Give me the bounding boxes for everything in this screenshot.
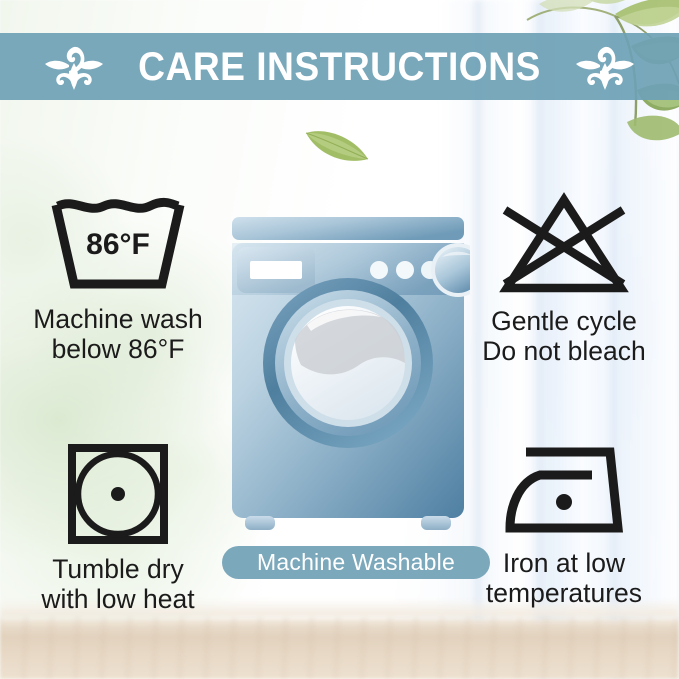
tumble-dry-icon: [2, 442, 234, 546]
washing-machine-illustration: [215, 205, 470, 535]
indicator-dot-1: [370, 261, 388, 279]
detergent-drawer-slot: [250, 261, 302, 279]
care-symbol-label: Gentle cycle Do not bleach: [448, 306, 679, 366]
machine-foot-right: [421, 516, 451, 530]
indicator-dot-2: [396, 261, 414, 279]
fleur-de-lis-icon-right: [574, 43, 636, 91]
care-symbol-iron: Iron at low temperatures: [448, 442, 679, 608]
care-symbol-machine-wash: 86°F Machine wash below 86°F: [2, 192, 234, 364]
care-symbol-label: Machine wash below 86°F: [2, 304, 234, 364]
floating-leaf-icon: [303, 124, 371, 166]
fleur-de-lis-icon-left: [43, 43, 105, 91]
wash-temperature-value: 86°F: [86, 228, 150, 261]
iron-icon: [448, 442, 679, 538]
machine-foot-left: [245, 516, 275, 530]
care-symbol-do-not-bleach: Gentle cycle Do not bleach: [448, 192, 679, 366]
crossed-triangle-icon: [448, 192, 679, 296]
machine-washable-badge: Machine Washable: [222, 546, 490, 579]
care-symbol-tumble-dry: Tumble dry with low heat: [2, 442, 234, 614]
table-grain: [0, 617, 679, 679]
page-title: CARE INSTRUCTIONS: [138, 47, 541, 87]
machine-lid: [232, 217, 464, 240]
care-symbol-label: Tumble dry with low heat: [2, 554, 234, 614]
wash-tub-icon: 86°F: [2, 192, 234, 296]
care-instructions-infographic: CARE INSTRUCTIONS 86°F Mach: [0, 0, 679, 679]
header-banner: CARE INSTRUCTIONS: [0, 33, 679, 100]
